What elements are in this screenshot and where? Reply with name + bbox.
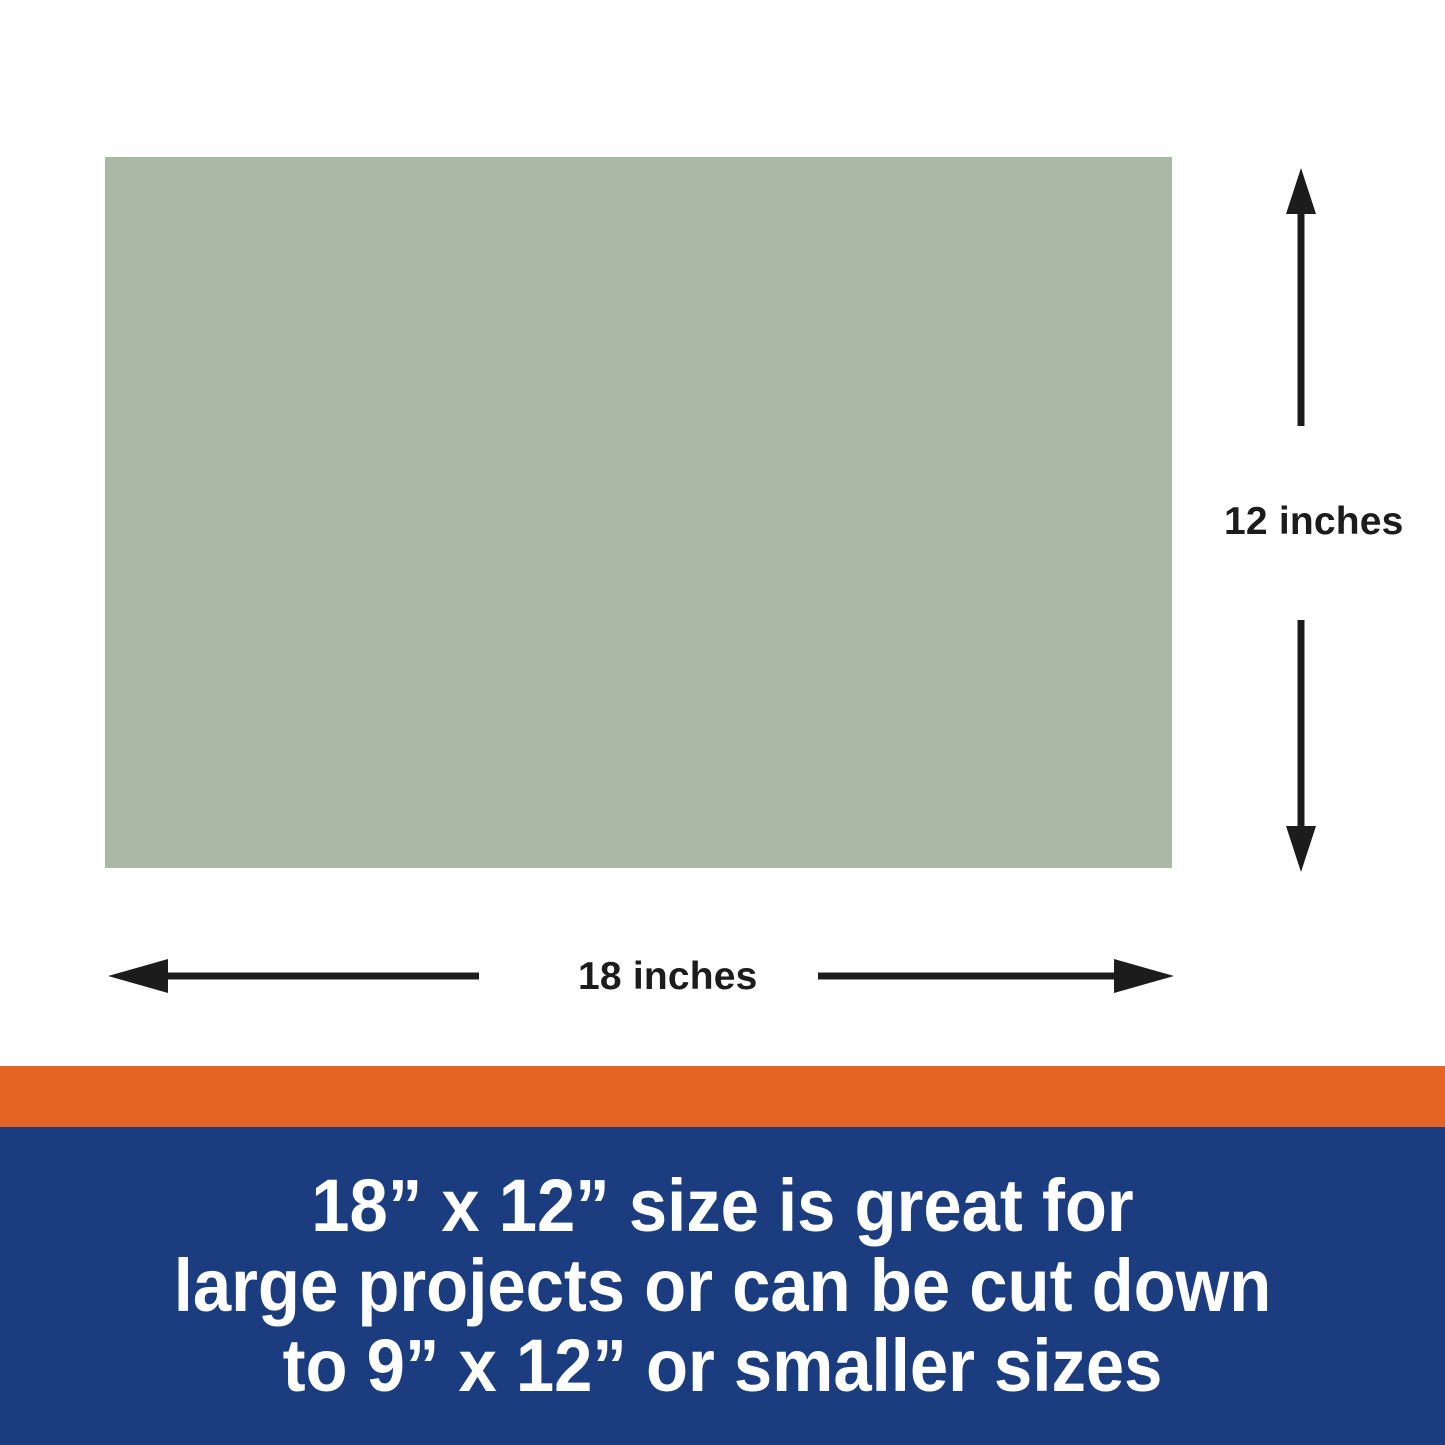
horizontal-dimension-label: 18 inches: [578, 957, 758, 996]
vertical-dimension-label: 12 inches: [1224, 502, 1404, 541]
caption-line-2: large projects or can be cut down: [51, 1246, 1395, 1326]
product-info-graphic: 12 inches 18 inches 18” x 12” size is gr…: [0, 0, 1445, 1445]
caption-text: 18” x 12” size is great for large projec…: [51, 1166, 1395, 1406]
caption-line-3: to 9” x 12” or smaller sizes: [51, 1326, 1395, 1406]
swatch-illustration-area: 12 inches 18 inches: [0, 0, 1445, 1066]
orange-accent-bar: [0, 1066, 1445, 1127]
caption-line-1: 18” x 12” size is great for: [51, 1166, 1395, 1246]
caption-panel: 18” x 12” size is great for large projec…: [0, 1127, 1445, 1445]
construction-paper-sheet: [105, 157, 1172, 868]
